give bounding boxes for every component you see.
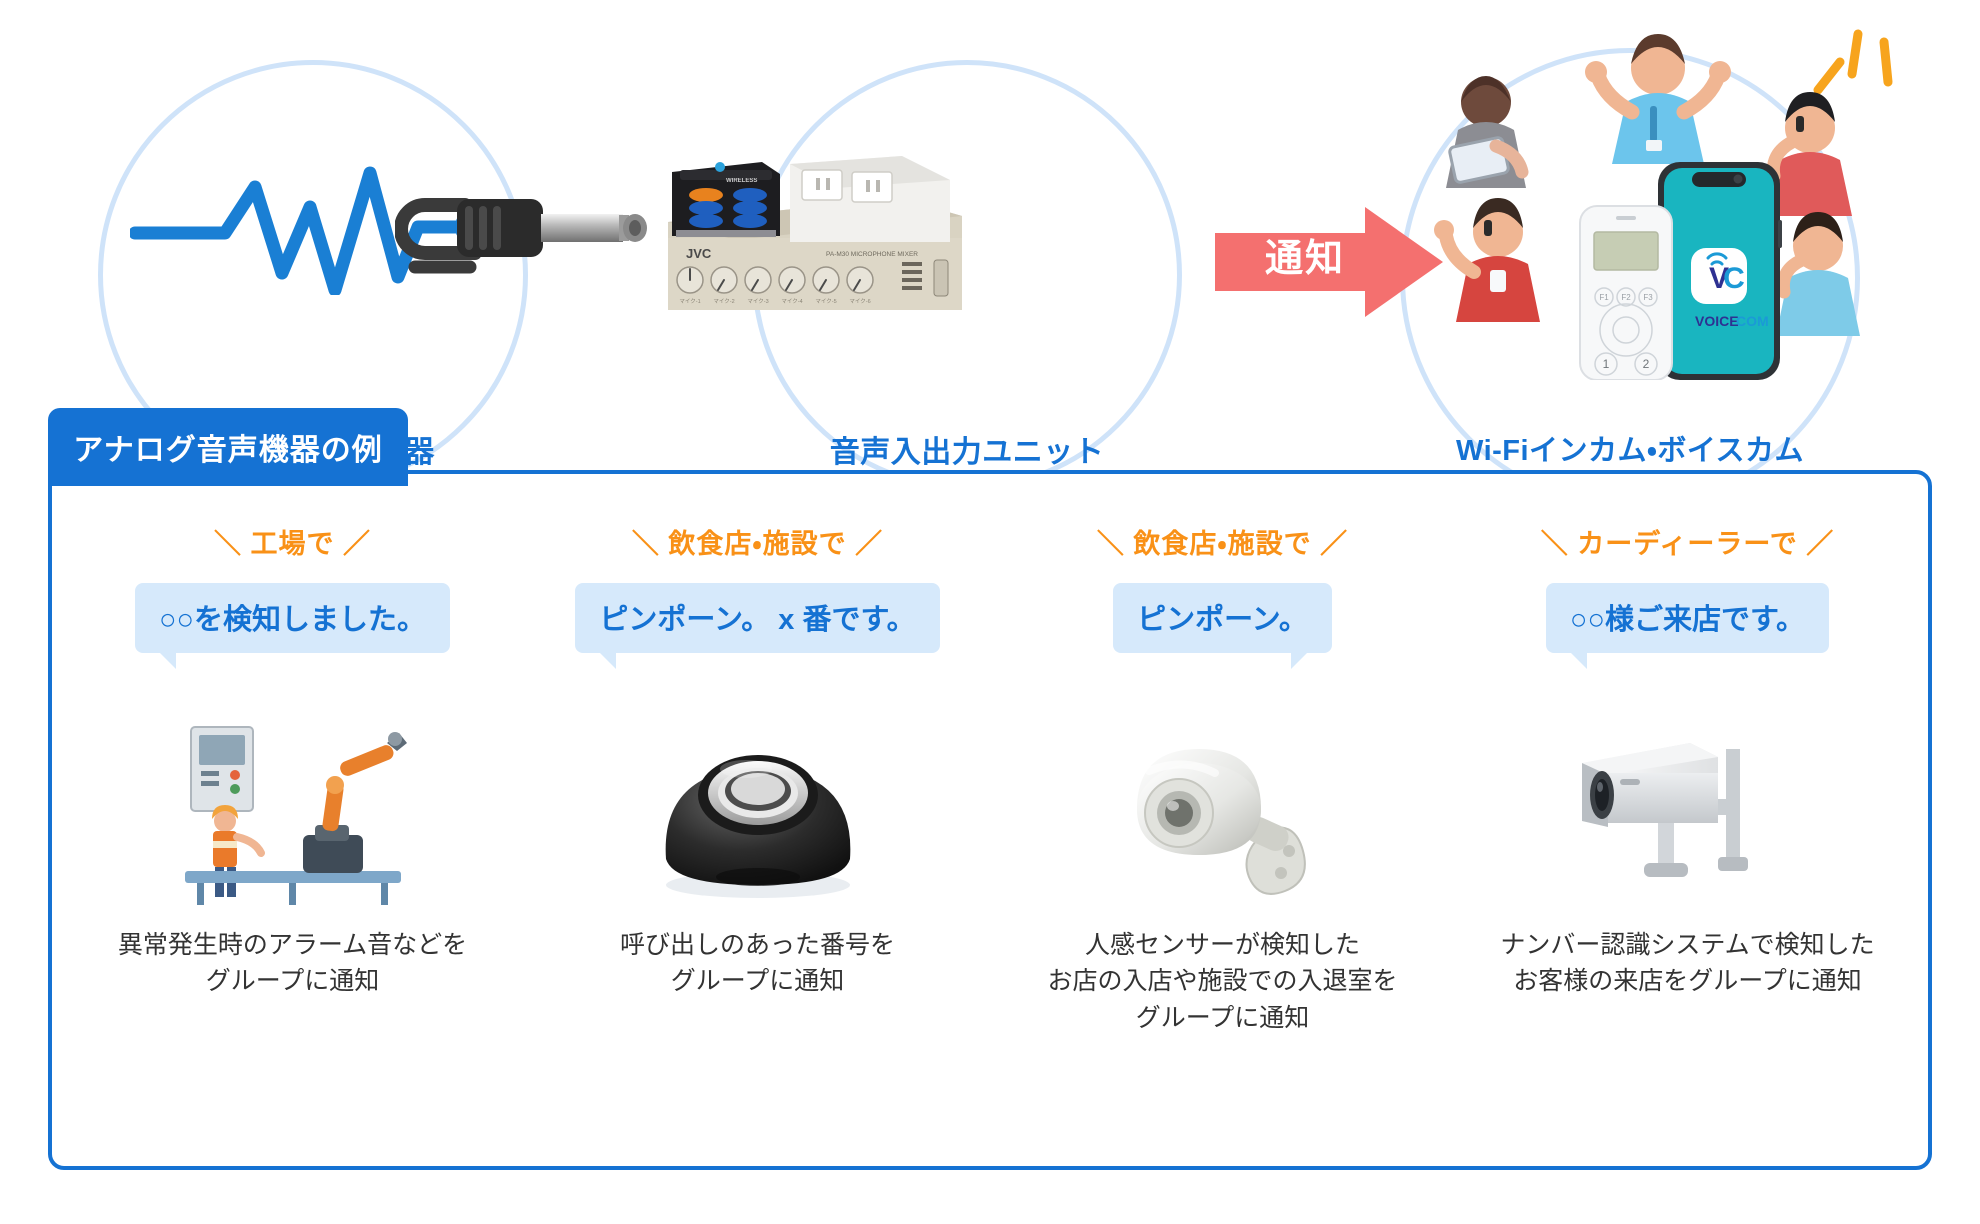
example-column-factory: ＼ 工場で ／ ○○を検知しました。 [60, 500, 525, 1140]
slash-right-icon: ／ [855, 522, 883, 561]
svg-text:F2: F2 [1621, 293, 1631, 302]
speech-bubble-motion-sensor: ピンポーン。 [1113, 583, 1332, 653]
svg-text:VOICE: VOICE [1695, 313, 1739, 329]
scene-text: 飲食店・施設で [1133, 529, 1311, 559]
svg-text:COM: COM [1736, 313, 1769, 329]
scene-text: カーディーラーで [1577, 529, 1798, 559]
svg-text:マイク-1: マイク-1 [679, 298, 700, 305]
svg-text:1: 1 [1603, 357, 1610, 371]
svg-text:マイク-3: マイク-3 [747, 298, 768, 305]
examples-panel-tab-label: アナログ音声機器の例 [73, 425, 382, 469]
scene-label-factory: ＼ 工場で ／ [214, 522, 371, 561]
person-tablet [1446, 76, 1526, 188]
scene-text: 工場で [251, 529, 335, 559]
speech-bubble-plate-camera: ○○様ご来店です。 [1546, 583, 1829, 653]
scene-label-restaurant-1: ＼ 飲食店・施設で ／ [632, 522, 883, 561]
art-motion-sensor [996, 689, 1449, 909]
scene-label-restaurant-2: ＼ 飲食店・施設で ／ [1097, 522, 1348, 561]
slash-left-icon: ＼ [1541, 522, 1569, 561]
number-plate-camera-icon [1558, 709, 1818, 909]
caption-plate-camera: ナンバー認識システムで検知した お客様の来店をグループに通知 [1500, 927, 1874, 1000]
call-button-icon [628, 709, 888, 909]
slash-left-icon: ＼ [632, 522, 660, 561]
examples-columns: ＼ 工場で ／ ○○を検知しました。 [60, 500, 1920, 1140]
slash-right-icon: ／ [1320, 522, 1348, 561]
svg-text:マイク-6: マイク-6 [849, 298, 870, 305]
svg-text:F3: F3 [1643, 293, 1653, 302]
factory-robot-icon [163, 709, 423, 909]
speech-bubble-call-button: ピンポーン。 x 番です。 [575, 583, 939, 653]
examples-panel-tab: アナログ音声機器の例 [48, 408, 408, 486]
caption-factory: 異常発生時のアラーム音などを グループに通知 [118, 927, 467, 1000]
motion-sensor-icon [1093, 709, 1353, 909]
audio-plug-icon [395, 175, 685, 305]
svg-text:JVC: JVC [686, 246, 712, 261]
slash-right-icon: ／ [1806, 522, 1834, 561]
person-cheering [1585, 34, 1731, 164]
svg-text:F1: F1 [1599, 293, 1609, 302]
scene-label-car-dealer: ＼ カーディーラーで ／ [1541, 522, 1835, 561]
svg-text:マイク-4: マイク-4 [781, 298, 802, 305]
svg-text:C: C [1723, 262, 1745, 295]
example-column-motion-sensor: ＼ 飲食店・施設で ／ ピンポーン。 [990, 500, 1455, 1140]
example-column-call-button: ＼ 飲食店・施設で ／ ピンポーン。 x 番です。 [525, 500, 990, 1140]
svg-text:マイク-2: マイク-2 [713, 298, 734, 305]
svg-text:マイク-5: マイク-5 [815, 298, 836, 305]
person-headset-left [1434, 198, 1540, 322]
art-factory-robot [66, 689, 519, 909]
slash-left-icon: ＼ [1097, 522, 1125, 561]
art-call-button [531, 689, 984, 909]
scene-text: 飲食店・施設で [668, 529, 846, 559]
art-plate-camera [1461, 689, 1914, 909]
mixer-unit-icon: JVC PA-M30 MICROPHONE MIXER マイク-1マイク-2 マ… [650, 150, 970, 335]
example-column-plate-camera: ＼ カーディーラーで ／ ○○様ご来店です。 [1455, 500, 1920, 1140]
devices-illustration: V C VOICE COM F1F2F3 12 [1562, 150, 1832, 380]
node-label-audio-io-unit: 音声入出力ユニット [752, 433, 1182, 472]
diagram-canvas: JVC PA-M30 MICROPHONE MIXER マイク-1マイク-2 マ… [0, 0, 1980, 1224]
slash-right-icon: ／ [343, 522, 371, 561]
svg-text:2: 2 [1643, 357, 1650, 371]
svg-text:PA-M30 MICROPHONE MIXER: PA-M30 MICROPHONE MIXER [826, 251, 918, 258]
speech-bubble-factory: ○○を検知しました。 [135, 583, 450, 653]
slash-left-icon: ＼ [214, 522, 242, 561]
svg-text:WIRELESS: WIRELESS [726, 178, 757, 184]
caption-motion-sensor: 人感センサーが検知した お店の入店や施設での入退室を グループに通知 [1047, 927, 1397, 1036]
caption-call-button: 呼び出しのあった番号を グループに通知 [620, 927, 895, 1000]
